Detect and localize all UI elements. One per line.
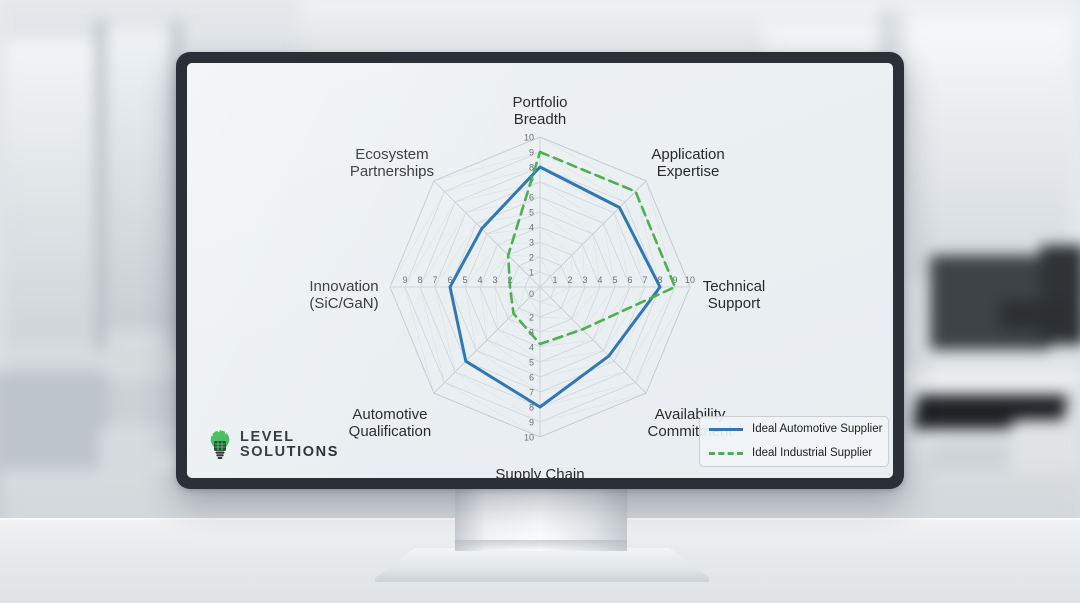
svg-text:3: 3 <box>492 275 497 285</box>
svg-text:6: 6 <box>529 373 534 383</box>
radar-tick-labels: 1098765432102345678910987654321234567891… <box>402 133 695 443</box>
svg-text:10: 10 <box>685 275 695 285</box>
scene: 1098765432102345678910987654321234567891… <box>0 0 1080 603</box>
svg-text:7: 7 <box>432 275 437 285</box>
monitor-screen[interactable]: 1098765432102345678910987654321234567891… <box>187 63 893 478</box>
right-desk-top <box>880 370 1080 386</box>
svg-text:8: 8 <box>417 275 422 285</box>
legend-item-industrial: Ideal Industrial Supplier <box>700 441 888 465</box>
svg-text:7: 7 <box>642 275 647 285</box>
legend-label-industrial: Ideal Industrial Supplier <box>752 447 872 459</box>
svg-text:4: 4 <box>597 275 602 285</box>
axis-label: Innovation(SiC/GaN) <box>309 278 378 312</box>
svg-text:5: 5 <box>612 275 617 285</box>
svg-text:4: 4 <box>529 223 534 233</box>
background-monitor-2 <box>1040 245 1080 345</box>
svg-text:10: 10 <box>524 133 534 143</box>
svg-text:1: 1 <box>552 275 557 285</box>
lightbulb-icon <box>207 429 233 461</box>
monitor-neck-shadow <box>455 540 627 551</box>
window-mullion-1 <box>96 20 105 350</box>
svg-text:2: 2 <box>567 275 572 285</box>
axis-label: TechnicalSupport <box>703 278 766 312</box>
left-window-pane-1 <box>6 40 98 340</box>
monitor-base <box>375 548 709 582</box>
axis-label: Supply ChainResilience <box>495 466 584 478</box>
monitor-bezel: 1098765432102345678910987654321234567891… <box>176 52 904 489</box>
svg-text:3: 3 <box>529 238 534 248</box>
svg-text:3: 3 <box>582 275 587 285</box>
svg-text:0: 0 <box>529 289 534 299</box>
svg-text:5: 5 <box>529 358 534 368</box>
svg-text:7: 7 <box>529 388 534 398</box>
svg-text:9: 9 <box>402 275 407 285</box>
svg-text:4: 4 <box>477 275 482 285</box>
legend-item-automotive: Ideal Automotive Supplier <box>700 417 888 441</box>
legend-swatch-solid-icon <box>709 428 743 431</box>
brand-logo: LEVEL SOLUTIONS <box>207 429 339 461</box>
logo-line-2: SOLUTIONS <box>240 445 339 460</box>
radar-spokes <box>390 137 690 437</box>
svg-text:10: 10 <box>524 433 534 443</box>
svg-text:5: 5 <box>462 275 467 285</box>
svg-text:5: 5 <box>529 208 534 218</box>
svg-text:9: 9 <box>529 418 534 428</box>
svg-text:2: 2 <box>529 253 534 263</box>
logo-wordmark: LEVEL SOLUTIONS <box>240 430 339 460</box>
axis-label: AutomotiveQualification <box>349 406 432 440</box>
legend-label-automotive: Ideal Automotive Supplier <box>752 423 882 435</box>
svg-text:6: 6 <box>627 275 632 285</box>
legend-swatch-dashed-icon <box>709 452 743 455</box>
logo-line-1: LEVEL <box>240 430 339 445</box>
axis-label: ApplicationExpertise <box>651 146 724 180</box>
svg-text:6: 6 <box>529 193 534 203</box>
axis-label: EcosystemPartnerships <box>350 146 434 180</box>
background-monitor-3 <box>1000 300 1070 330</box>
svg-text:4: 4 <box>529 343 534 353</box>
svg-text:9: 9 <box>529 148 534 158</box>
svg-text:1: 1 <box>529 268 534 278</box>
svg-text:2: 2 <box>529 313 534 323</box>
left-window-pane-2 <box>104 30 174 330</box>
chart-legend: Ideal Automotive Supplier Ideal Industri… <box>699 416 889 467</box>
right-window-pane-2 <box>910 20 1070 280</box>
axis-label: PortfolioBreadth <box>512 94 567 128</box>
